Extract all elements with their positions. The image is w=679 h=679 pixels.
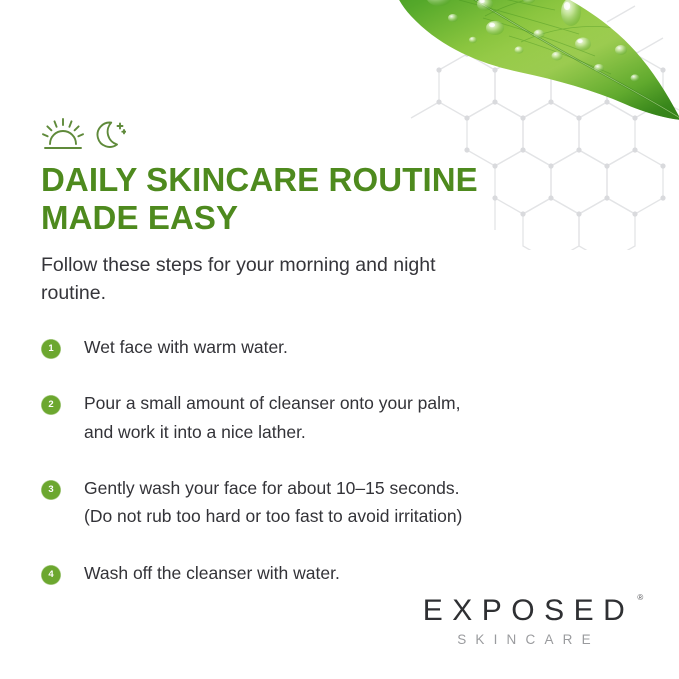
step-text: Wash off the cleanser with water.: [84, 559, 340, 587]
skincare-routine-infographic: DAILY SKINCARE ROUTINE MADE EASY Follow …: [0, 0, 679, 679]
page-title: DAILY SKINCARE ROUTINE MADE EASY: [41, 161, 561, 238]
step-text: Pour a small amount of cleanser onto you…: [84, 389, 460, 446]
sunrise-icon: [42, 118, 84, 155]
step-number-badge: 4: [41, 565, 61, 585]
page-subtitle: Follow these steps for your morning and …: [41, 252, 471, 307]
step-text-line: Pour a small amount of cleanser onto you…: [84, 389, 460, 417]
registered-trademark-icon: ®: [637, 594, 643, 602]
step-text-line: Wash off the cleanser with water.: [84, 559, 340, 587]
brand-name: EXPOSED ®: [414, 596, 635, 626]
step-number-badge: 3: [41, 480, 61, 500]
brand-name-text: EXPOSED: [423, 594, 635, 627]
brand-logo: EXPOSED ® SKINCARE: [408, 596, 640, 647]
list-item: 4 Wash off the cleanser with water.: [41, 559, 641, 587]
list-item: 1 Wet face with warm water.: [41, 333, 641, 361]
step-text-line: Gently wash your face for about 10–15 se…: [84, 474, 462, 502]
green-leaf-image: [343, 0, 679, 159]
step-text: Gently wash your face for about 10–15 se…: [84, 474, 462, 531]
step-number-badge: 2: [41, 395, 61, 415]
page-title-line-2: MADE EASY: [41, 199, 238, 236]
list-item: 3 Gently wash your face for about 10–15 …: [41, 474, 641, 531]
routine-icons: [42, 118, 126, 155]
step-text-line: (Do not rub too hard or too fast to avoi…: [84, 502, 462, 530]
page-subtitle-line-1: Follow these steps for your morning and …: [41, 254, 436, 276]
page-subtitle-line-2: routine.: [41, 282, 106, 304]
step-text: Wet face with warm water.: [84, 333, 288, 361]
step-text-line: and work it into a nice lather.: [84, 418, 460, 446]
list-item: 2 Pour a small amount of cleanser onto y…: [41, 389, 641, 446]
step-text-line: Wet face with warm water.: [84, 333, 288, 361]
page-title-line-1: DAILY SKINCARE ROUTINE: [41, 161, 478, 198]
steps-list: 1 Wet face with warm water. 2 Pour a sma…: [41, 333, 641, 587]
brand-tagline: SKINCARE: [408, 633, 640, 647]
step-number-badge: 1: [41, 339, 61, 359]
moon-stars-icon: [96, 118, 126, 155]
